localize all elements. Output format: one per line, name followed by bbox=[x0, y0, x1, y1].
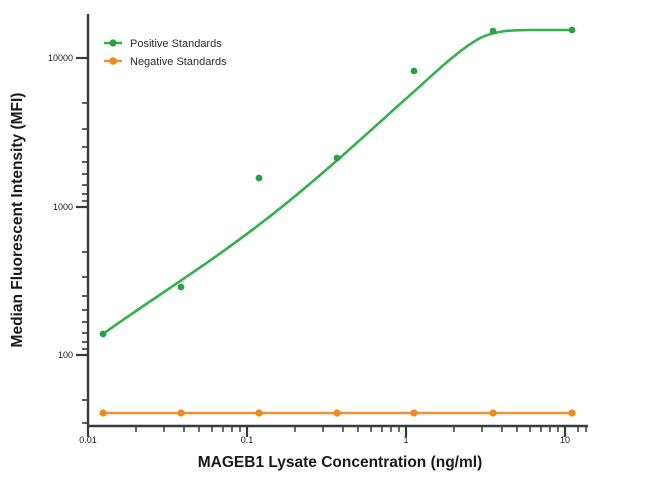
data-point bbox=[178, 284, 185, 291]
legend-marker-icon bbox=[109, 39, 116, 46]
y-tick-label-1000: 1000 bbox=[53, 202, 73, 212]
data-point bbox=[255, 409, 262, 416]
x-tick-label-10: 10 bbox=[560, 435, 570, 445]
data-point bbox=[411, 68, 418, 75]
x-tick-label-0.01: 0.01 bbox=[79, 435, 97, 445]
y-tick-label-100: 100 bbox=[58, 350, 73, 360]
data-point bbox=[410, 409, 417, 416]
data-point bbox=[256, 175, 263, 182]
data-point bbox=[569, 27, 576, 34]
data-point bbox=[177, 409, 184, 416]
data-point bbox=[334, 155, 341, 162]
x-tick-label-1: 1 bbox=[403, 435, 408, 445]
chart-page: 10000 1000 100 Median Fluorescent Intens… bbox=[0, 0, 650, 480]
x-axis-title: MAGEB1 Lysate Concentration (ng/ml) bbox=[198, 454, 482, 471]
chart-canvas: 10000 1000 100 Median Fluorescent Intens… bbox=[0, 0, 650, 480]
legend-label-negative-standards: Negative Standards bbox=[130, 56, 227, 68]
legend-marker-icon bbox=[109, 57, 117, 65]
data-point bbox=[99, 409, 106, 416]
data-point bbox=[100, 331, 107, 338]
data-point bbox=[489, 409, 496, 416]
data-point bbox=[568, 409, 575, 416]
y-axis-title: Median Fluorescent Intensity (MFI) bbox=[9, 93, 26, 348]
data-point bbox=[333, 409, 340, 416]
data-point bbox=[490, 28, 497, 35]
legend-label-positive-standards: Positive Standards bbox=[130, 38, 222, 50]
chart-background bbox=[0, 0, 650, 480]
x-tick-label-0.1: 0.1 bbox=[241, 435, 254, 445]
y-tick-label-10000: 10000 bbox=[48, 53, 73, 63]
